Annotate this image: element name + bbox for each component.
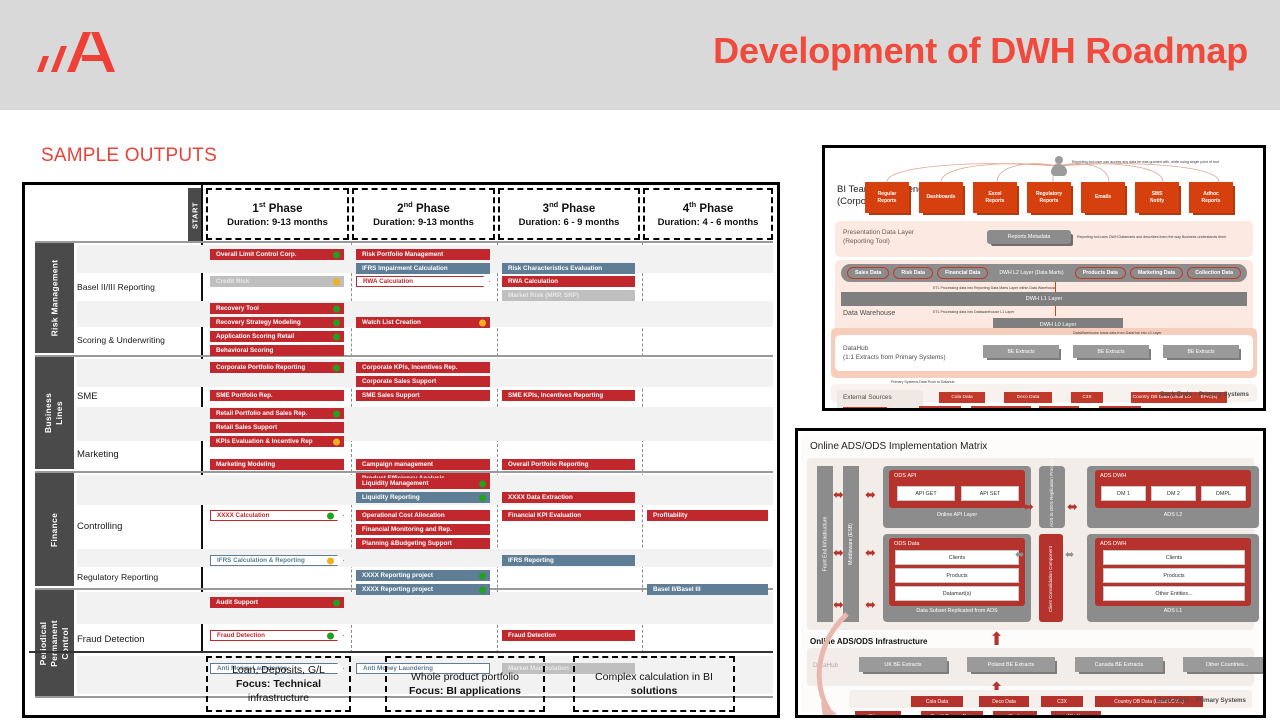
middleware-label: Middleware (ESB) <box>848 523 854 565</box>
status-dot-amber <box>333 278 340 285</box>
task-bar: Financial KPI Evaluation <box>502 510 635 521</box>
phase-name-3: 3nd Phase <box>500 200 638 215</box>
task-bar: Profitability <box>647 510 768 521</box>
ods-subtitle: Data Subset Replicated from ADS <box>883 608 1031 614</box>
task-bar-label: RWA Calculation <box>508 276 558 287</box>
datahub-row: DataHubUK BE ExtractsPoland BE ExtractsC… <box>807 648 1254 686</box>
status-dot-green <box>479 494 486 501</box>
task-bar: Retail Sales Support <box>210 422 344 433</box>
etl-arrow-2 <box>1055 306 1056 316</box>
status-dot-green <box>333 364 340 371</box>
api-replication-arrow: ⬌ <box>1023 500 1034 513</box>
task-bar: Corporate Sales Support <box>356 376 490 387</box>
external-sources-block: External SourcesGoogle Analytics <box>837 390 923 411</box>
status-dot-green <box>327 512 334 519</box>
status-dot-green <box>479 572 486 579</box>
presentation-label-line2: (Reporting Tool) <box>843 237 914 246</box>
ads-source-bottom-1: Others... <box>855 711 901 718</box>
task-bar-label: IFRS Calculation & Reporting <box>217 555 305 566</box>
task-bar: SME KPIs, Incentives Reporting <box>502 390 635 401</box>
task-bar: IFRS Reporting <box>502 555 635 566</box>
task-bar: Liquidity Management <box>356 478 490 489</box>
be-extract-3: BE Extracts <box>1163 345 1239 358</box>
task-bar-label: IFRS Impairment Calculation <box>362 263 448 274</box>
focus-line-2: Focus: Technical <box>236 677 321 691</box>
focus-line-1: Whole product portfolio <box>411 670 519 684</box>
task-bar-label: Operational Cost Allocation <box>362 510 445 521</box>
ads-ods-implementation-diagram: Online ADS/ODS Implementation MatrixFron… <box>795 428 1266 718</box>
row-label-10: Controlling <box>77 505 187 549</box>
external-source-item: Google Analytics <box>843 407 887 411</box>
ads-entity-1: Clients <box>1103 550 1245 565</box>
replication-column: ADS to ODS Replication Process <box>1039 466 1065 528</box>
task-bar-label: SME Portfolio Rep. <box>216 390 273 401</box>
task-bar: Overall Limit Control Corp. <box>210 249 344 260</box>
section-label: SAMPLE OUTPUTS <box>41 145 217 167</box>
task-bar: Campaign management <box>356 459 490 470</box>
phase-duration-2: Duration: 9-13 months <box>354 217 493 228</box>
task-bar-label: SME KPIs, Incentives Reporting <box>508 390 603 401</box>
roadmap-table: START1st PhaseDuration: 9-13 months2nd P… <box>22 182 780 718</box>
report-tile-3: ExcelReports <box>973 182 1017 213</box>
focus-line-1: Complex calculation in BI <box>595 670 713 684</box>
presentation-label-line1: Presentation Data Layer <box>843 228 914 237</box>
company-logo <box>33 28 133 78</box>
backends-block: External SourcesGoogle AnalyticsCola Dat… <box>831 384 1257 402</box>
data-warehouse-block: Sales DataRisk DataFinancial DataDWH L2 … <box>835 260 1253 332</box>
ads-source-top-3: C3X <box>1041 696 1083 707</box>
task-bar-label: XXXX Data Extraction <box>508 492 573 503</box>
task-bar: Planning &Budgeting Support <box>356 538 490 549</box>
flow-arrow-2: ⬌ <box>833 546 844 559</box>
task-bar: Fraud Detection <box>502 630 635 641</box>
status-dot-amber <box>479 319 486 326</box>
phase-duration-1: Duration: 9-13 months <box>208 217 347 228</box>
task-bar-label: Liquidity Management <box>362 478 428 489</box>
country-extract-1: UK BE Extracts <box>859 657 947 672</box>
task-bar: Corporate Portfolio Reporting <box>210 362 344 373</box>
dwh-l2-label: DWH L2 Layer (Data Marts) <box>992 267 1070 279</box>
task-bar: Risk Portfolio Management <box>356 249 490 260</box>
etl-note-1: ETL Processing data into Reporting Data … <box>933 286 1056 290</box>
task-bar-label: Fraud Detection <box>217 630 265 641</box>
consolidation-ads-arrow: ⬌ <box>1065 550 1074 561</box>
ads-source-top-2: Deco Data <box>979 696 1029 707</box>
country-extract-3: Canada BE Extracts <box>1075 657 1163 672</box>
task-bar: Overall Portfolio Reporting <box>502 459 635 470</box>
primary-source-bottom-3: iScala <box>1039 406 1079 411</box>
footer-separator <box>29 651 773 653</box>
task-bar: Corporate KPIs, Incentives Rep. <box>356 362 490 373</box>
task-bar: Application Scoring Retail <box>210 331 344 342</box>
data-warehouse-label: Data Warehouse <box>843 310 895 317</box>
etl-arrow-1 <box>1055 282 1056 292</box>
front-end-column: Front End Infrastructure <box>817 466 833 622</box>
task-bar: RWA Calculation <box>502 276 635 287</box>
primary-source-bottom-4: Alfa Vox <box>1099 406 1141 411</box>
api-item-1: API GET <box>897 486 955 501</box>
task-bar: SME Sales Support <box>356 390 490 401</box>
task-bar: IFRS Impairment Calculation <box>356 263 490 274</box>
task-bar: Marketing Modeling <box>210 459 344 470</box>
task-bar: Basel II/Basel III <box>647 584 768 595</box>
status-dot-green <box>479 480 486 487</box>
external-sources-title: External Sources <box>843 394 892 401</box>
row-band-6 <box>77 549 773 567</box>
row-label-8: Marketing <box>77 441 187 469</box>
phase-header-1: 1st PhaseDuration: 9-13 months <box>206 188 349 240</box>
start-label: START <box>191 196 200 236</box>
status-dot-amber <box>333 438 340 445</box>
task-bar-label: Application Scoring Retail <box>216 331 294 342</box>
status-dot-green <box>333 410 340 417</box>
dm-item-3: DMPL <box>1201 486 1246 501</box>
replication-label: ADS to ODS Replication Process <box>1049 467 1055 527</box>
task-bar: XXXX Data Extraction <box>502 492 635 503</box>
task-bar: Audit Support <box>210 597 344 608</box>
task-bar: Market Risk (MRP, SRP) <box>502 290 635 301</box>
metadata-note: Reporting tool uses DWH Datamarts and de… <box>1077 235 1226 239</box>
task-bar: XXXX Calculation <box>210 510 344 521</box>
user-body-icon <box>1051 164 1067 176</box>
page-header: Development of DWH Roadmap <box>0 0 1280 110</box>
phase-header-4: 4th PhaseDuration: 4 - 6 months <box>643 188 773 240</box>
task-bar: Liquidity Reporting <box>356 492 490 503</box>
task-bar: Retail Portfolio and Sales Rep. <box>210 408 344 419</box>
status-dot-green <box>333 305 340 312</box>
datahub-block: DataHub(1:1 Extracts from Primary System… <box>835 335 1253 371</box>
task-bar-label: SME Sales Support <box>362 390 420 401</box>
country-extract-4: Other Countries... <box>1183 657 1266 672</box>
report-tile-2: Dashboards <box>919 182 963 213</box>
status-dot-green <box>479 586 486 593</box>
task-bar-label: Fraud Detection <box>508 630 556 641</box>
phase-name-4: 4th Phase <box>645 200 771 215</box>
group-label-text-4: Periodical Permanent Control <box>38 620 71 667</box>
focus-line-3: infrastructure <box>248 691 309 705</box>
consolidation-column: Client Consolidation Component <box>1039 534 1063 622</box>
focus-line-2: Focus: BI applications <box>409 684 521 698</box>
be-extract-1: BE Extracts <box>983 345 1059 358</box>
primary-source-bottom-2: Credit Bureau Data <box>971 406 1031 411</box>
task-bar-label: Profitability <box>653 510 688 521</box>
phase-header-2: 2nd PhaseDuration: 9-13 months <box>352 188 495 240</box>
country-extract-2: Poland BE Extracts <box>967 657 1055 672</box>
task-bar-label: XXXX Reporting project <box>362 584 433 595</box>
row-band-7 <box>77 592 773 624</box>
primary-source-bottom-1: Others... <box>919 406 961 411</box>
report-tile-5: Emails <box>1081 182 1125 213</box>
user-head-icon <box>1055 156 1063 164</box>
status-dot-green <box>333 599 340 606</box>
task-bar-label: XXXX Reporting project <box>362 570 433 581</box>
task-bar: Recovery Strategy Modeling <box>210 317 344 328</box>
task-bar-label: Overall Portfolio Reporting <box>508 459 588 470</box>
task-bar-label: Financial Monitoring and Rep. <box>362 524 452 535</box>
person-note: Reporting tool user can access any data … <box>1072 160 1219 164</box>
ads-diagram-title: Online ADS/ODS Implementation Matrix <box>810 441 987 452</box>
row-label-4: Scoring & Underwriting <box>77 327 187 353</box>
focus-box-3: Complex calculation in BIsolutions <box>573 656 735 712</box>
task-bar-label: Risk Portfolio Management <box>362 249 443 260</box>
task-bar-label: Watch List Creation <box>362 317 421 328</box>
task-bar-label: Corporate Portfolio Reporting <box>216 362 305 373</box>
task-bar: SME Portfolio Rep. <box>210 390 344 401</box>
status-dot-green <box>333 251 340 258</box>
api-item-2: API SET <box>961 486 1019 501</box>
task-bar: IFRS Calculation & Reporting <box>210 555 344 566</box>
task-bar-label: Recovery Strategy Modeling <box>216 317 301 328</box>
ods-data-title: ODS Data <box>894 541 920 547</box>
section-separator-1 <box>35 241 773 243</box>
replication-ads-arrow: ⬌ <box>1067 500 1078 513</box>
report-tile-4: RegulatoryReports <box>1027 182 1071 213</box>
ads-l1-label: ADS L1 <box>1087 608 1259 614</box>
ads-entity-3: Other Entities... <box>1103 586 1245 601</box>
primary-source-top-1: Cola Data <box>939 392 985 403</box>
task-bar: Risk Characteristics Evaluation <box>502 263 635 274</box>
task-bar: Operational Cost Allocation <box>356 510 490 521</box>
focus-line-2: solutions <box>631 684 678 698</box>
task-bar-label: Credit Risk <box>216 276 249 287</box>
row-label-2: Basel II/III Reporting <box>77 273 187 301</box>
task-bar: Fraud Detection <box>210 630 344 641</box>
group-label-4: Periodical Permanent Control <box>35 590 74 696</box>
dwh-l2-layer: Sales DataRisk DataFinancial DataDWH L2 … <box>841 264 1247 282</box>
task-bar: Credit Risk <box>210 276 344 287</box>
group-label-1: Risk Management <box>35 243 74 353</box>
task-bar: Financial Monitoring and Rep. <box>356 524 490 535</box>
task-bar-label: Overall Limit Control Corp. <box>216 249 296 260</box>
task-bar-label: XXXX Calculation <box>217 510 270 521</box>
flow-arrow-1: ⬌ <box>833 488 844 501</box>
primary-source-top-2: Deco Data <box>1004 392 1052 403</box>
task-bar: Behavioral Scoring <box>210 345 344 356</box>
focus-line-1: Loan, Deposits, G/L <box>232 663 325 677</box>
focus-box-2: Whole product portfolioFocus: BI applica… <box>385 656 545 712</box>
flow-arrow-4: ⬌ <box>865 488 876 501</box>
data-mart-2: Risk Data <box>893 267 933 279</box>
task-bar: RWA Calculation <box>356 276 490 287</box>
phase-duration-4: Duration: 4 - 6 months <box>645 217 771 228</box>
datahub-label: DataHub(1:1 Extracts from Primary System… <box>843 344 946 362</box>
task-bar-label: Financial KPI Evaluation <box>508 510 581 521</box>
data-mart-5: Marketing Data <box>1130 267 1183 279</box>
data-mart-6: Collection Data <box>1187 267 1241 279</box>
task-bar-label: Retail Portfolio and Sales Rep. <box>216 408 307 419</box>
task-bar-label: Planning &Budgeting Support <box>362 538 452 549</box>
task-bar-label: Corporate KPIs, Incentives Rep. <box>362 362 458 373</box>
task-bar-label: Campaign management <box>362 459 433 470</box>
ads-source-bottom-3: iScala <box>993 711 1037 718</box>
front-end-label: Front End Infrastructure <box>822 517 828 572</box>
reports-metadata-box: Reports Metadata <box>987 230 1071 244</box>
row-label-6: SME <box>77 387 187 407</box>
task-bar-label: Market Risk (MRP, SRP) <box>508 290 579 301</box>
ads-source-top-1: Cola Data <box>911 696 963 707</box>
task-bar-label: IFRS Reporting <box>508 555 554 566</box>
ads-load-arrow: ⬆ <box>989 630 1004 648</box>
task-bar-label: Behavioral Scoring <box>216 345 273 356</box>
group-label-text-2: Business Lines <box>44 393 66 433</box>
group-label-text-1: Risk Management <box>50 260 60 337</box>
group-label-2: Business Lines <box>35 357 74 469</box>
task-bar-label: RWA Calculation <box>363 276 413 287</box>
status-dot-green <box>333 319 340 326</box>
task-bar-label: Corporate Sales Support <box>362 376 436 387</box>
ods-entity-3: Datamart(s) <box>895 586 1019 601</box>
task-bar-label: Basel II/Basel III <box>653 584 701 595</box>
phase-name-2: 2nd Phase <box>354 200 493 215</box>
presentation-layer-label: Presentation Data Layer(Reporting Tool) <box>843 228 914 246</box>
start-marker: START <box>188 188 202 243</box>
primary-source-top-3: C3X <box>1071 392 1103 403</box>
consolidation-label: Client Consolidation Component <box>1048 536 1054 622</box>
bi-dwh-architecture-diagram: Reporting tool user can access any data … <box>822 145 1266 411</box>
data-mart-1: Sales Data <box>847 267 889 279</box>
ads-dwh-bottom-title: ADS DWH <box>1100 541 1126 547</box>
ods-entity-1: Clients <box>895 550 1019 565</box>
ods-entity-2: Products <box>895 568 1019 583</box>
etl-note-2: ETL Processing data into Datawarehouse L… <box>933 310 1014 314</box>
task-bar-label: Recovery Tool <box>216 303 259 314</box>
ads-entity-2: Products <box>1103 568 1245 583</box>
primary-systems-block: Cola DataDeco DataC3XCountry DB Data (Lo… <box>849 690 1252 708</box>
dm-item-2: DM 2 <box>1151 486 1196 501</box>
ads-main-area: Front End InfrastructureMiddleware (ESB)… <box>807 458 1254 630</box>
status-dot-green <box>327 632 334 639</box>
focus-box-1: Loan, Deposits, G/LFocus: Technicalinfra… <box>206 656 351 712</box>
phase-header-3: 3nd PhaseDuration: 6 - 9 months <box>498 188 640 240</box>
task-bar-label: Audit Support <box>216 597 258 608</box>
group-label-3: Finance <box>35 473 74 586</box>
task-bar-label: Liquidity Reporting <box>362 492 420 503</box>
datahub-label-line1: DataHub <box>843 344 946 353</box>
data-mart-4: Products Data <box>1075 267 1126 279</box>
task-bar-label: Marketing Modeling <box>216 459 275 470</box>
phase-duration-3: Duration: 6 - 9 months <box>500 217 638 228</box>
report-tile-1: RegularReports <box>865 182 909 213</box>
report-tile-6: SMSNotify <box>1135 182 1179 213</box>
report-tile-7: AdhocReports <box>1189 182 1233 213</box>
task-bar-label: Retail Sales Support <box>216 422 277 433</box>
task-bar: KPIs Evaluation & Incentive Rep <box>210 436 344 447</box>
task-bar: XXXX Reporting project <box>356 584 490 595</box>
ads-l2-label: ADS L2 <box>1087 512 1259 518</box>
dm-item-1: DM 1 <box>1101 486 1146 501</box>
ads-source-bottom-2: Credit Bureau Data <box>921 711 983 718</box>
datahub-label-line2: (1:1 Extracts from Primary Systems) <box>843 353 946 362</box>
ods-consolidation-arrow: ⬌ <box>1015 550 1024 561</box>
task-bar-label: KPIs Evaluation & Incentive Rep <box>216 436 313 447</box>
be-extract-2: BE Extracts <box>1073 345 1149 358</box>
row-label-12: Regulatory Reporting <box>77 567 187 588</box>
task-bar: Recovery Tool <box>210 303 344 314</box>
flow-arrow-5: ⬌ <box>865 546 876 559</box>
group-label-text-3: Finance <box>49 512 59 546</box>
online-api-layer-label: Online API Layer <box>883 512 1031 518</box>
dwh-l1-layer: DWH L1 Layer <box>841 292 1247 306</box>
row-band-4 <box>77 407 773 441</box>
task-bar: XXXX Reporting project <box>356 570 490 581</box>
ads-source-bottom-4: Alfa Vox <box>1051 711 1101 718</box>
section-separator-2 <box>35 355 773 357</box>
status-dot-green <box>333 333 340 340</box>
reporting-user-figure <box>1051 156 1067 176</box>
status-dot-amber <box>327 557 334 564</box>
task-bar: Watch List Creation <box>356 317 490 328</box>
ads-backends-label: Back Ends – Primary Systems <box>1157 697 1246 704</box>
ods-api-title: ODS API <box>894 473 916 479</box>
presentation-layer: Presentation Data Layer(Reporting Tool)R… <box>835 221 1253 257</box>
phase-name-1: 1st Phase <box>208 200 347 215</box>
middleware-column: Middleware (ESB) <box>843 466 859 622</box>
backends-label: Back Ends – Primary Systems <box>1160 391 1249 398</box>
hub-note: DataWarehouse loads data from DataHub in… <box>1073 331 1162 335</box>
ads-dwh-top-title: ADS DWH <box>1100 473 1126 479</box>
data-mart-3: Financial Data <box>937 267 988 279</box>
task-bar-label: Risk Characteristics Evaluation <box>508 263 602 274</box>
page-title: Development of DWH Roadmap <box>713 30 1248 72</box>
